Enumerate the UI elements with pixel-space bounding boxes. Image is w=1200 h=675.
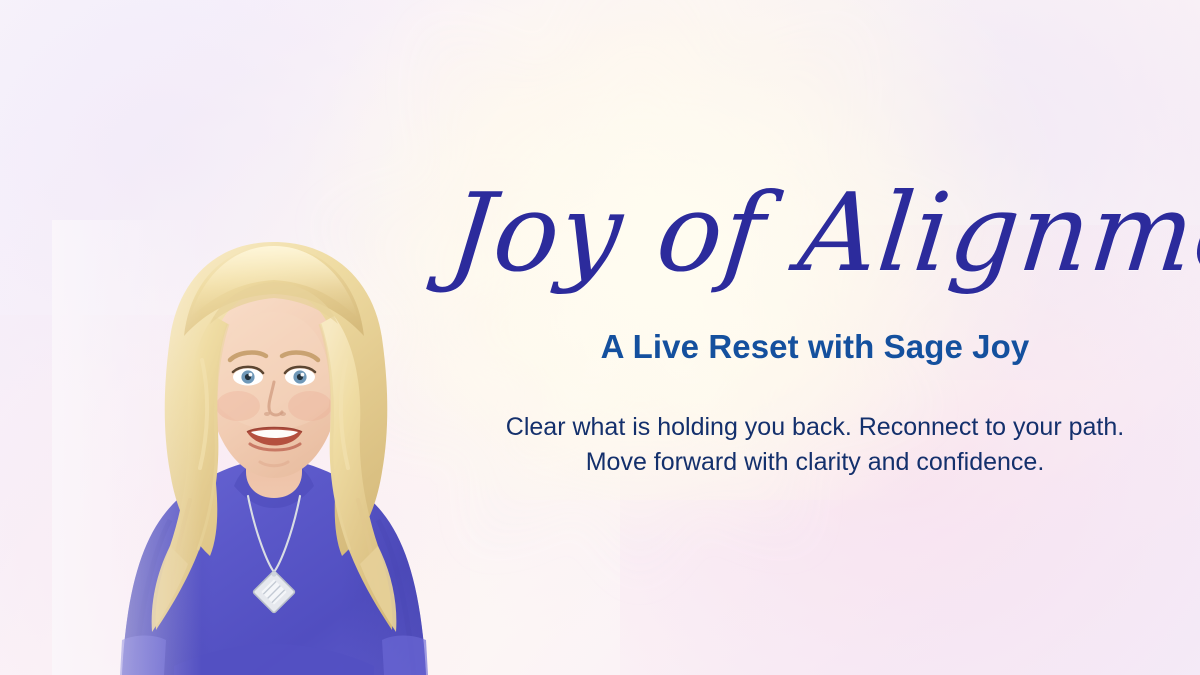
sage-joy-portrait — [78, 220, 470, 675]
background-glow-bottom-left — [0, 315, 470, 675]
description-line-2: Move forward with clarity and confidence… — [450, 445, 1180, 481]
event-banner: Joy of Alignment A Live Reset with Sage … — [0, 0, 1200, 675]
background-glow-top-left — [0, 0, 440, 390]
description-line-1: Clear what is holding you back. Reconnec… — [450, 410, 1180, 446]
banner-description: Clear what is holding you back. Reconnec… — [450, 410, 1180, 481]
banner-text-block: Joy of Alignment A Live Reset with Sage … — [450, 180, 1180, 481]
banner-subtitle: A Live Reset with Sage Joy — [450, 328, 1180, 366]
portrait-edge-fade — [52, 220, 202, 675]
page-title: Joy of Alignment — [444, 180, 1185, 288]
